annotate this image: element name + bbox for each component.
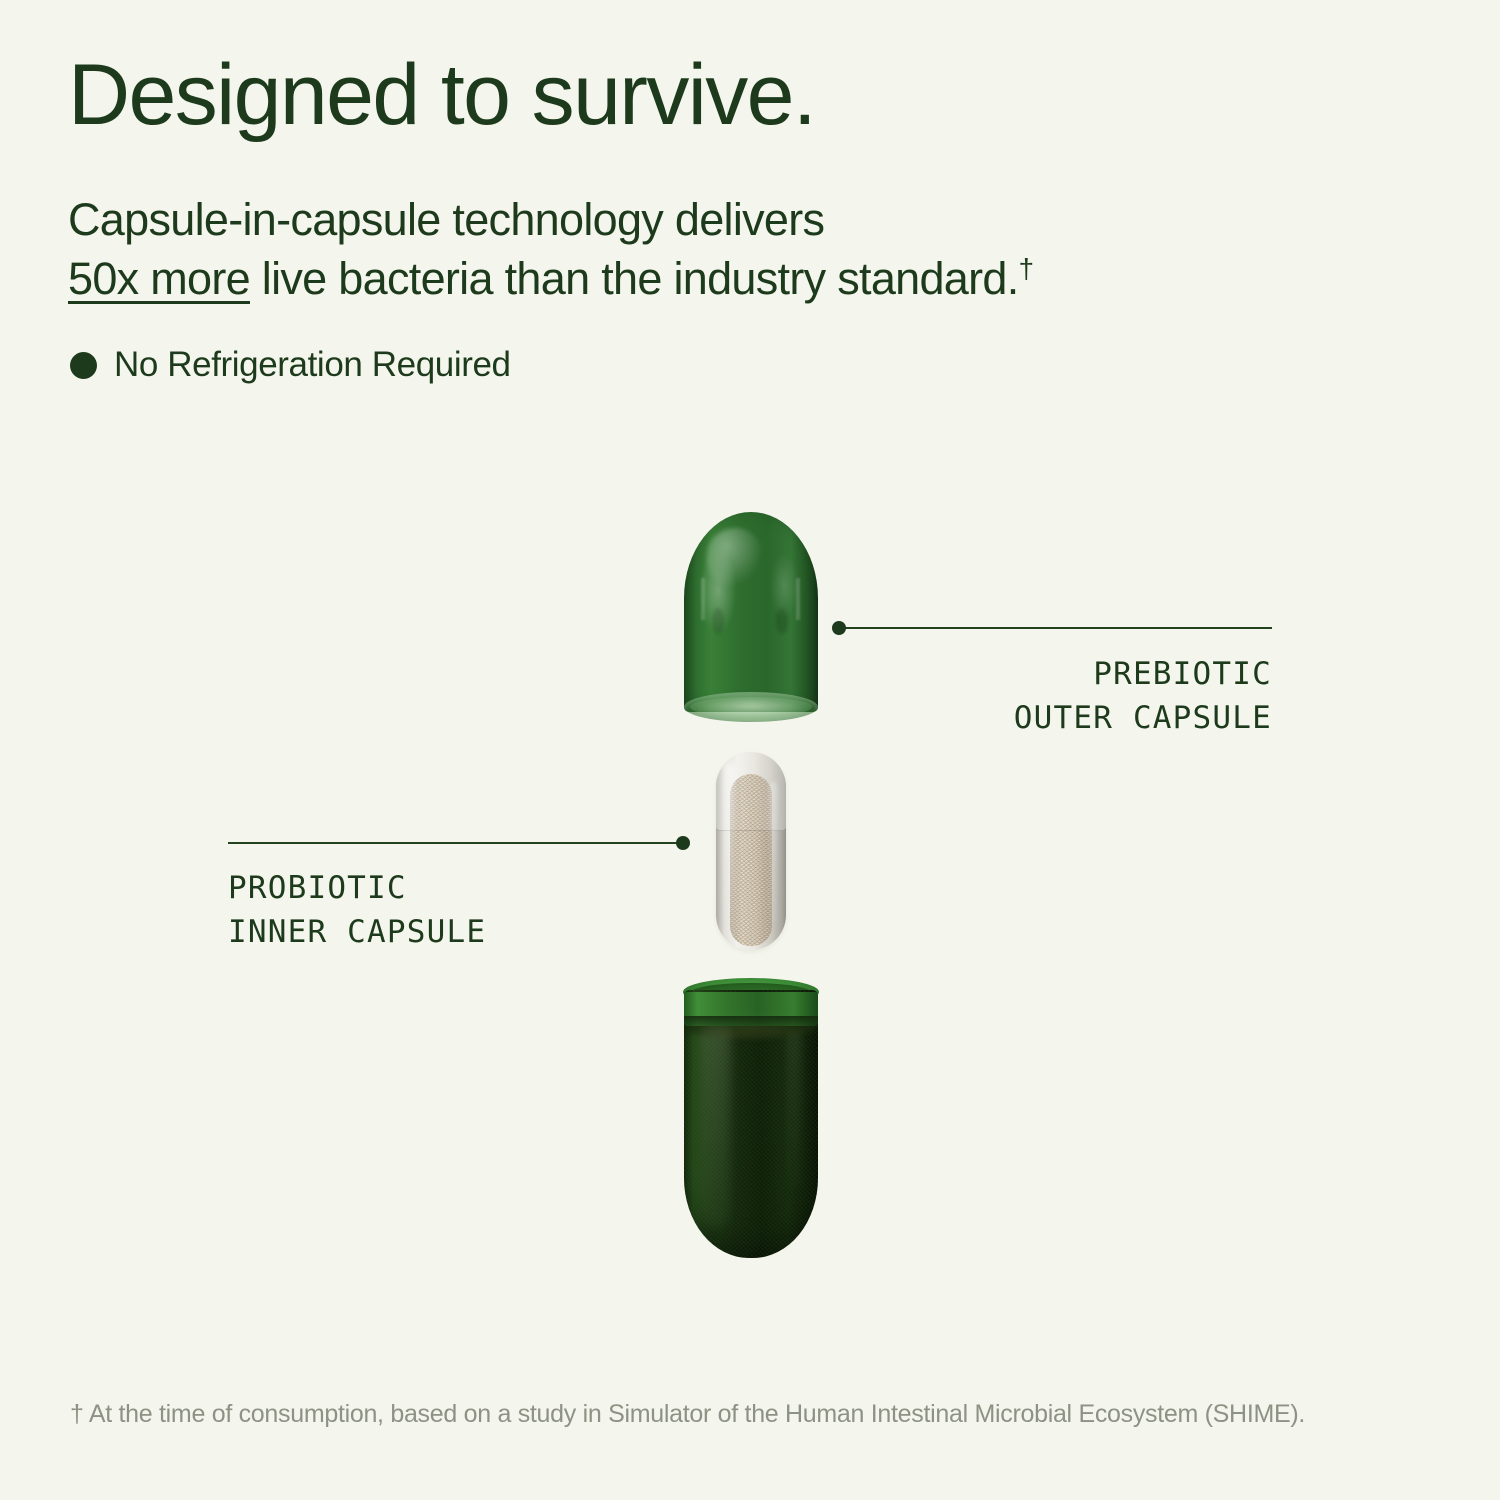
outer-capsule-cap-rim-inner bbox=[690, 697, 812, 717]
outer-capsule-body-inner-shadow bbox=[684, 1016, 818, 1038]
probiotic-powder-fill bbox=[730, 774, 772, 946]
prebiotic-powder-surface bbox=[686, 1012, 816, 1040]
subheading-emphasis: 50x more bbox=[68, 253, 250, 304]
outer-capsule-body bbox=[684, 990, 818, 1258]
callout-leader-line-right bbox=[840, 627, 1272, 629]
product-diagram-page: Designed to survive. Capsule-in-capsule … bbox=[0, 0, 1500, 1500]
outer-capsule-body-neck bbox=[684, 992, 818, 1026]
cap-gloss-highlight bbox=[706, 528, 764, 588]
outer-capsule-cap bbox=[684, 512, 818, 712]
cap-dimple-right bbox=[776, 608, 788, 634]
page-title: Designed to survive. bbox=[68, 52, 815, 140]
feature-bullet: No Refrigeration Required bbox=[70, 345, 511, 385]
subheading-line-2-rest: live bacteria than the industry standard… bbox=[250, 253, 1019, 304]
callout-dot-left bbox=[676, 836, 690, 850]
dagger-footnote-marker: † bbox=[1019, 253, 1034, 284]
outer-capsule-cap-rim bbox=[684, 692, 818, 722]
callout-label-prebiotic-outer-capsule: PREBIOTIC OUTER CAPSULE bbox=[1014, 652, 1272, 740]
body-highlight-right bbox=[788, 1030, 802, 1190]
inner-capsule bbox=[716, 752, 786, 950]
subheading-line-2: 50x more live bacteria than the industry… bbox=[68, 249, 1033, 308]
subheading-line-1: Capsule-in-capsule technology delivers bbox=[68, 190, 1033, 249]
filled-circle-bullet-icon bbox=[70, 352, 97, 379]
callout-label-probiotic-inner-capsule: PROBIOTIC INNER CAPSULE bbox=[228, 866, 486, 954]
inner-capsule-highlight-left bbox=[723, 762, 735, 940]
footnote: † At the time of consumption, based on a… bbox=[70, 1400, 1305, 1429]
inner-capsule-highlight-right bbox=[770, 782, 777, 922]
callout-dot-right bbox=[832, 621, 846, 635]
cap-shoulder-left bbox=[701, 578, 705, 620]
subheading: Capsule-in-capsule technology delivers 5… bbox=[68, 190, 1033, 309]
outer-capsule-body-rim bbox=[683, 978, 819, 1006]
feature-bullet-label: No Refrigeration Required bbox=[114, 345, 511, 385]
outer-capsule-body-rim-inner bbox=[691, 983, 811, 1002]
cap-dimple-left bbox=[712, 608, 724, 634]
prebiotic-powder-fill bbox=[684, 990, 818, 1258]
body-highlight-left bbox=[701, 1018, 731, 1228]
inner-capsule-cap-seam bbox=[716, 752, 786, 831]
cap-shoulder-right bbox=[796, 578, 800, 620]
callout-leader-line-left bbox=[228, 842, 683, 844]
